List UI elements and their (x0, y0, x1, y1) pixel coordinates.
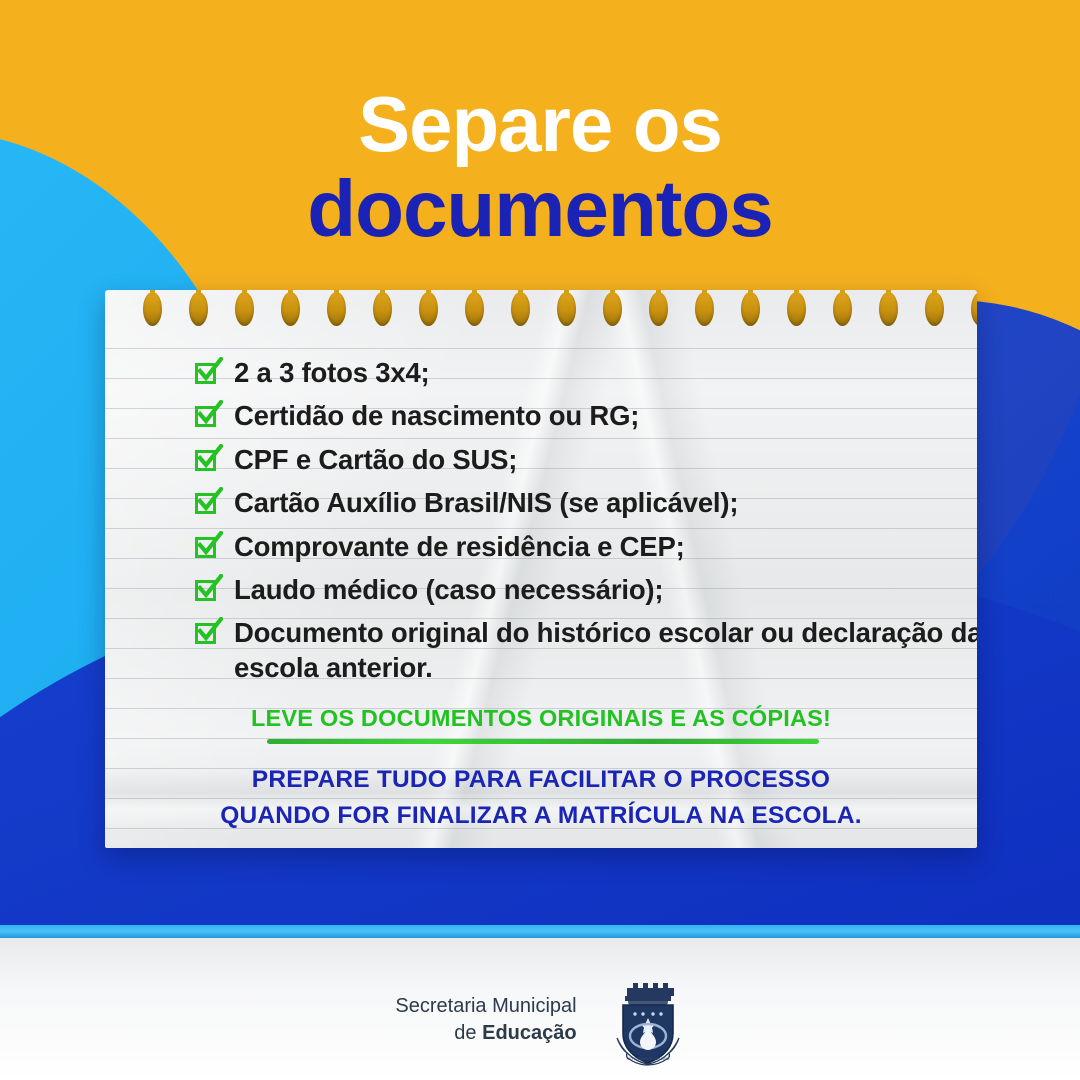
spiral-hole (235, 292, 254, 326)
organization-name: Secretaria Municipal de Educação (395, 993, 576, 1047)
spiral-hole (189, 292, 208, 326)
checklist-item: Cartão Auxílio Brasil/NIS (se aplicável)… (195, 486, 977, 520)
spiral-hole (833, 292, 852, 326)
spiral-hole (603, 292, 622, 326)
spiral-hole (465, 292, 484, 326)
highlight-underline (267, 739, 819, 744)
spiral-hole (925, 292, 944, 326)
background-cyan-rim (0, 925, 1080, 939)
page-title: Separe os documentos (0, 85, 1080, 249)
organization-line-1: Secretaria Municipal (395, 993, 576, 1020)
check-box-icon (195, 580, 220, 605)
spiral-hole (281, 292, 300, 326)
check-box-icon (195, 406, 220, 431)
highlight-text: LEVE OS DOCUMENTOS ORIGINAIS E AS CÓPIAS… (251, 705, 831, 732)
spiral-hole (143, 292, 162, 326)
footer: Secretaria Municipal de Educação (0, 970, 1080, 1070)
spiral-hole (373, 292, 392, 326)
checklist-item: 2 a 3 fotos 3x4; (195, 356, 977, 390)
checklist-item-label: CPF e Cartão do SUS; (234, 443, 517, 477)
document-checklist: 2 a 3 fotos 3x4;Certidão de nascimento o… (195, 356, 977, 694)
spiral-hole (649, 292, 668, 326)
spiral-hole (971, 292, 977, 326)
check-box-icon (195, 623, 220, 648)
headline-line-1: Separe os (0, 85, 1080, 163)
closing-note: PREPARE TUDO PARA FACILITAR O PROCESSO Q… (105, 762, 977, 833)
checklist-item-label: Cartão Auxílio Brasil/NIS (se aplicável)… (234, 486, 738, 520)
check-box-icon (195, 363, 220, 388)
checklist-item-label: Laudo médico (caso necessário); (234, 573, 663, 607)
spiral-hole (787, 292, 806, 326)
checklist-item: Comprovante de residência e CEP; (195, 530, 977, 564)
spiral-hole (741, 292, 760, 326)
spiral-hole (327, 292, 346, 326)
checklist-item: CPF e Cartão do SUS; (195, 443, 977, 477)
spiral-hole (511, 292, 530, 326)
closing-line-1: PREPARE TUDO PARA FACILITAR O PROCESSO (105, 762, 977, 798)
spiral-hole (695, 292, 714, 326)
check-box-icon (195, 450, 220, 475)
closing-line-2: QUANDO FOR FINALIZAR A MATRÍCULA NA ESCO… (105, 798, 977, 834)
headline-line-2: documentos (0, 169, 1080, 249)
check-box-icon (195, 537, 220, 562)
check-box-icon (195, 493, 220, 518)
notepad-card: 2 a 3 fotos 3x4;Certidão de nascimento o… (105, 290, 977, 848)
spiral-hole (879, 292, 898, 326)
svg-text:RIO GRANDE BRASILEIRO: RIO GRANDE BRASILEIRO (626, 1057, 669, 1061)
highlight-note: LEVE OS DOCUMENTOS ORIGINAIS E AS CÓPIAS… (105, 705, 977, 732)
coat-of-arms-icon: RIO GRANDE BRASILEIRO (611, 974, 685, 1066)
checklist-item: Laudo médico (caso necessário); (195, 573, 977, 607)
organization-line-2-prefix: de (454, 1022, 482, 1044)
checklist-item-label: Certidão de nascimento ou RG; (234, 399, 639, 433)
checklist-item-label: Documento original do histórico escolar … (234, 616, 977, 685)
spiral-holes (105, 290, 977, 336)
spiral-hole (419, 292, 438, 326)
poster-canvas: Separe os documentos 2 a 3 fotos 3x4;Cer… (0, 0, 1080, 1080)
checklist-item: Documento original do histórico escolar … (195, 616, 977, 685)
organization-line-2-strong: Educação (482, 1022, 576, 1044)
checklist-item-label: Comprovante de residência e CEP; (234, 530, 685, 564)
spiral-hole (557, 292, 576, 326)
checklist-item: Certidão de nascimento ou RG; (195, 399, 977, 433)
organization-line-2: de Educação (395, 1020, 576, 1047)
checklist-item-label: 2 a 3 fotos 3x4; (234, 356, 430, 390)
